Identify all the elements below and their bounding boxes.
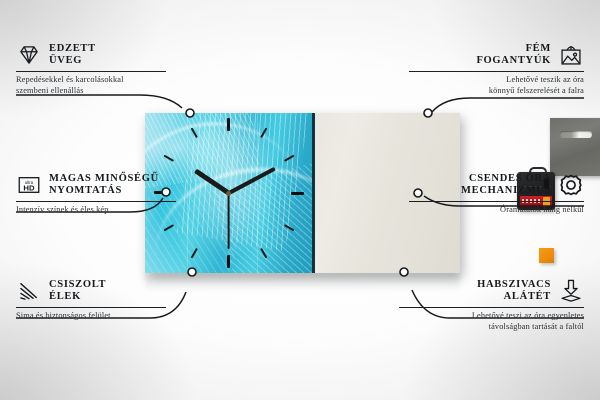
down-arrow-pad-icon bbox=[558, 278, 584, 304]
clock-tick-mark bbox=[260, 128, 267, 139]
callout-desc-polished-edges-1: Sima és biztonságos felület bbox=[16, 311, 166, 322]
callout-head-print: ultra HD MAGAS MINŐSÉGŰ NYOMTATÁS bbox=[16, 172, 176, 198]
callout-head-polished-edges: CSISZOLT ÉLEK bbox=[16, 278, 166, 304]
callout-title-silent-mechanism: CSENDES ÓRA MECHANIZMUS bbox=[461, 173, 551, 198]
callout-desc-foam-pad-2: távolságban tartását a faltól bbox=[399, 322, 584, 333]
callout-head-foam-pad: HABSZIVACS ALÁTÉT bbox=[399, 278, 584, 304]
callout-tempered-glass: EDZETT ÜVEG Repedésekkel és karcolásokka… bbox=[16, 42, 166, 97]
ultra-hd-icon: ultra HD bbox=[16, 172, 42, 198]
clock-center-cap bbox=[226, 191, 231, 196]
callout-head-tempered-glass: EDZETT ÜVEG bbox=[16, 42, 166, 68]
callout-foam-pad: HABSZIVACS ALÁTÉT Lehetővé teszi az óra … bbox=[399, 278, 584, 333]
callout-desc-metal-handles-2: könnyű felszerelését a falra bbox=[409, 86, 584, 97]
clock-tick-mark bbox=[163, 224, 174, 231]
callout-desc-tempered-glass-1: Repedésekkel és karcolásokkal bbox=[16, 75, 166, 86]
callout-title-print: MAGAS MINŐSÉGŰ NYOMTATÁS bbox=[49, 173, 159, 198]
clock-second-hand bbox=[228, 193, 230, 249]
clock-tick-mark bbox=[227, 255, 230, 268]
callout-title-metal-handles: FÉM FOGANTYÚK bbox=[476, 43, 551, 68]
clock-tick-mark bbox=[283, 155, 294, 162]
clock-tick-mark bbox=[227, 118, 230, 131]
callout-silent-mechanism: CSENDES ÓRA MECHANIZMUS Óramutatók hang … bbox=[409, 172, 584, 216]
callout-desc-silent-mechanism-1: Óramutatók hang nélkül bbox=[409, 205, 584, 216]
callout-desc-tempered-glass-2: szembeni ellenállás bbox=[16, 86, 166, 97]
diamond-icon bbox=[16, 42, 42, 68]
callout-divider-tempered-glass bbox=[16, 71, 166, 72]
callout-polished-edges: CSISZOLT ÉLEK Sima és biztonságos felüle… bbox=[16, 278, 166, 322]
callout-head-metal-handles: FÉM FOGANTYÚK bbox=[409, 42, 584, 68]
clock-tick-mark bbox=[283, 224, 294, 231]
hanger-slot bbox=[560, 131, 592, 138]
callout-title-foam-pad: HABSZIVACS ALÁTÉT bbox=[477, 279, 551, 304]
callout-desc-metal-handles-1: Lehetővé teszik az óra bbox=[409, 75, 584, 86]
connector-metal-handles bbox=[432, 98, 584, 112]
metal-hanger-plate bbox=[550, 118, 600, 176]
callout-desc-print-1: Intenzív színek és éles kép bbox=[16, 205, 176, 216]
connector-tempered-glass bbox=[16, 95, 182, 108]
clock-tick-mark bbox=[190, 248, 197, 259]
callout-divider-print bbox=[16, 201, 176, 202]
foam-pad-sample bbox=[539, 248, 554, 263]
callout-metal-handles: FÉM FOGANTYÚK Lehetővé teszik az óra kön… bbox=[409, 42, 584, 97]
polished-edges-icon bbox=[16, 278, 42, 304]
clock-tick-mark bbox=[163, 155, 174, 162]
clock-tick bbox=[229, 192, 304, 194]
callout-desc-foam-pad-1: Lehetővé teszi az óra egyenletes bbox=[399, 311, 584, 322]
clock-tick-mark bbox=[190, 128, 197, 139]
callout-divider-polished-edges bbox=[16, 307, 166, 308]
infographic-canvas: EDZETT ÜVEG Repedésekkel és karcolásokka… bbox=[0, 0, 600, 400]
clock-tick bbox=[228, 118, 230, 193]
picture-frame-icon bbox=[558, 42, 584, 68]
callout-divider-silent-mechanism bbox=[409, 201, 584, 202]
svg-text:HD: HD bbox=[23, 183, 35, 192]
callout-title-polished-edges: CSISZOLT ÉLEK bbox=[49, 279, 106, 304]
gear-icon bbox=[558, 172, 584, 198]
clock-tick-mark bbox=[260, 248, 267, 259]
callout-high-quality-print: ultra HD MAGAS MINŐSÉGŰ NYOMTATÁS Intenz… bbox=[16, 172, 176, 216]
callout-divider-metal-handles bbox=[409, 71, 584, 72]
callout-divider-foam-pad bbox=[399, 307, 584, 308]
callout-head-silent-mechanism: CSENDES ÓRA MECHANIZMUS bbox=[409, 172, 584, 198]
callout-title-tempered-glass: EDZETT ÜVEG bbox=[49, 43, 96, 68]
clock-tick-mark bbox=[291, 192, 304, 195]
